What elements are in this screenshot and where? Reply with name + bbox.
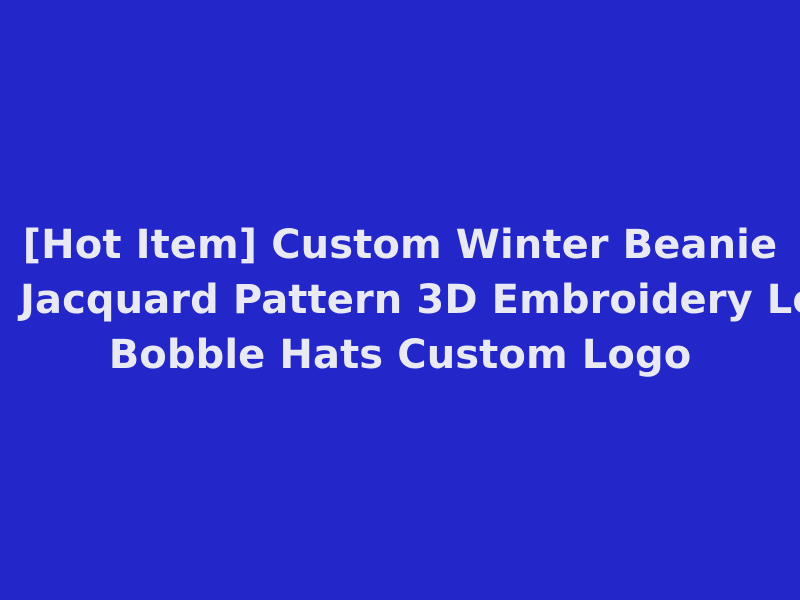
- product-title: [Hot Item] Custom Winter Beanie Jacquard…: [20, 218, 780, 383]
- product-title-line-3: Bobble Hats Custom Logo: [20, 328, 780, 383]
- product-title-line-2: Jacquard Pattern 3D Embroidery Logo: [20, 273, 780, 328]
- product-title-line-1: [Hot Item] Custom Winter Beanie: [20, 218, 780, 273]
- product-title-card: [Hot Item] Custom Winter Beanie Jacquard…: [0, 0, 800, 600]
